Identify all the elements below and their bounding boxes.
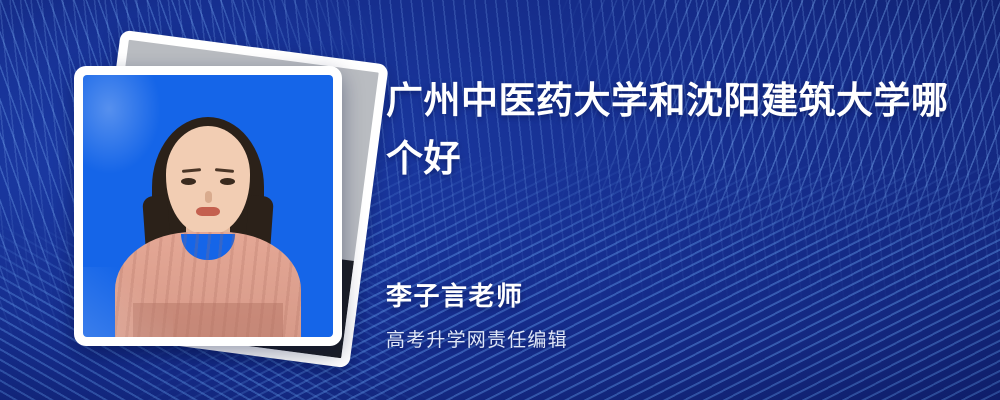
photo-card-stack <box>58 38 358 358</box>
portrait-mouth <box>196 207 220 216</box>
byline: 李子言老师 高考升学网责任编辑 <box>386 276 906 352</box>
page-title: 广州中医药大学和沈阳建筑大学哪个好 <box>386 72 956 188</box>
portrait-dress-waist <box>133 303 283 337</box>
portrait-eye-right <box>220 178 235 185</box>
portrait-eyebrow-right <box>215 168 234 173</box>
portrait-eye-left <box>181 178 196 185</box>
portrait-eyebrow-left <box>182 168 201 173</box>
portrait-illustration <box>83 75 333 337</box>
author-role: 高考升学网责任编辑 <box>386 325 906 352</box>
author-name: 李子言老师 <box>386 276 906 313</box>
photo-card-front <box>74 66 342 346</box>
portrait-face <box>166 126 250 234</box>
banner-text-column: 广州中医药大学和沈阳建筑大学哪个好 李子言老师 高考升学网责任编辑 <box>386 0 966 400</box>
article-banner: 广州中医药大学和沈阳建筑大学哪个好 李子言老师 高考升学网责任编辑 <box>0 0 1000 400</box>
portrait-nose <box>205 191 212 203</box>
portrait-dress <box>115 232 301 337</box>
portrait-photo <box>83 75 333 337</box>
